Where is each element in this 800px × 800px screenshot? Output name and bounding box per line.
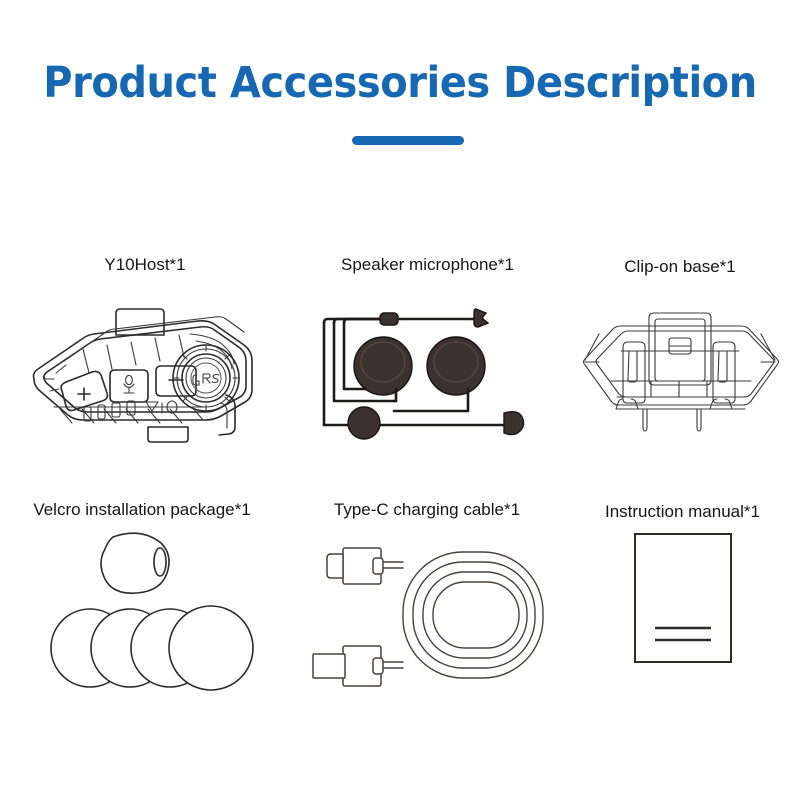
page-title: Product Accessories Description bbox=[28, 58, 772, 108]
accessory-label-charging-cable: Type-C charging cable*1 bbox=[292, 500, 562, 520]
accessory-item-instruction-manual: Instruction manual*1 bbox=[570, 500, 795, 730]
accessory-item-y10-host: Y10Host*1 bbox=[10, 255, 280, 475]
accessory-label-y10-host: Y10Host*1 bbox=[10, 255, 280, 275]
accessory-item-speaker-microphone: Speaker microphone*1 bbox=[295, 255, 560, 475]
accessory-item-velcro-package: Velcro installation package*1 bbox=[2, 500, 282, 730]
accessory-grid: Y10Host*1 bbox=[0, 170, 800, 800]
accessory-image-y10-host bbox=[10, 287, 280, 452]
accessory-item-charging-cable: Type-C charging cable*1 bbox=[292, 500, 562, 730]
speaker-microphone-icon bbox=[308, 293, 548, 453]
instruction-manual-icon bbox=[583, 528, 783, 678]
title-underline-divider bbox=[352, 136, 464, 145]
accessory-image-velcro-package bbox=[2, 525, 282, 700]
bluetooth-headset-icon bbox=[20, 287, 270, 452]
clip-on-base-icon bbox=[575, 285, 785, 435]
page-header: Product Accessories Description bbox=[0, 0, 800, 170]
accessory-image-charging-cable bbox=[292, 538, 562, 698]
accessory-item-clip-on-base: Clip-on base*1 bbox=[565, 255, 795, 475]
accessory-image-clip-on-base bbox=[565, 285, 795, 435]
accessory-label-speaker-microphone: Speaker microphone*1 bbox=[295, 255, 560, 275]
velcro-pads-icon bbox=[17, 525, 267, 700]
charging-cable-icon bbox=[305, 538, 550, 698]
accessory-image-instruction-manual bbox=[570, 528, 795, 678]
accessory-label-clip-on-base: Clip-on base*1 bbox=[565, 257, 795, 277]
accessory-image-speaker-microphone bbox=[295, 293, 560, 453]
accessory-label-velcro-package: Velcro installation package*1 bbox=[2, 500, 282, 520]
accessory-label-instruction-manual: Instruction manual*1 bbox=[570, 502, 795, 522]
